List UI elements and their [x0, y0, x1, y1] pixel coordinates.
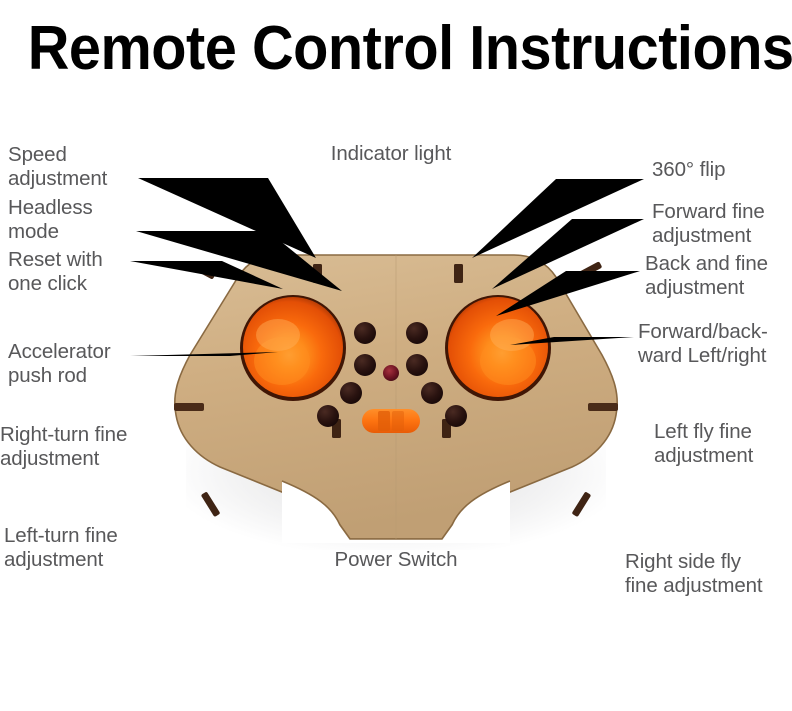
indicator-led [383, 365, 399, 381]
callout-label-left-fly-fine: Left fly fine adjustment [654, 420, 792, 468]
callout-label-left-turn-fine: Left-turn fine adjustment [4, 524, 169, 572]
callout-label-back-and-fine: Back and fine adjustment [645, 252, 792, 300]
slot-upper-right [454, 264, 463, 283]
trim-button-left-lower[interactable] [340, 382, 362, 404]
right-joystick[interactable] [445, 295, 551, 401]
callout-label-right-turn-fine: Right-turn fine adjustment [0, 423, 165, 471]
left-joystick[interactable] [240, 295, 346, 401]
trim-button-right-bottom[interactable] [445, 405, 467, 427]
tab-slot-left [174, 403, 204, 411]
callout-label-indicator-light: Indicator light [316, 142, 466, 166]
tab-slot-top-right [576, 261, 602, 279]
callout-label-power-switch: Power Switch [321, 548, 471, 572]
instruction-diagram: Remote Control Instructions [0, 0, 792, 711]
remote-control-device [170, 243, 622, 543]
tab-slot-bottom-right [572, 491, 592, 517]
callout-label-headless-mode: Headless mode [8, 196, 158, 244]
trim-button-right-lower[interactable] [421, 382, 443, 404]
slot-upper-left [313, 264, 322, 283]
tab-slot-top-left [190, 261, 216, 279]
callout-label-flip-360: 360° flip [652, 158, 792, 182]
trim-button-left-bottom[interactable] [317, 405, 339, 427]
trim-button-right-upper[interactable] [406, 322, 428, 344]
tab-slot-right [588, 403, 618, 411]
trim-button-left-middle[interactable] [354, 354, 376, 376]
callout-label-reset-one-click: Reset with one click [8, 248, 158, 296]
callout-label-accelerator-push-rod: Accelerator push rod [8, 340, 168, 388]
page-title: Remote Control Instructions [28, 14, 765, 84]
callout-label-forward-fine: Forward fine adjustment [652, 200, 792, 248]
callout-label-forward-backward-lr: Forward/back- ward Left/right [638, 320, 792, 368]
trim-button-right-middle[interactable] [406, 354, 428, 376]
callout-label-right-side-fly-fine: Right side fly fine adjustment [625, 550, 792, 598]
trim-button-left-upper[interactable] [354, 322, 376, 344]
tab-slot-bottom-left [201, 491, 221, 517]
callout-label-speed-adjustment: Speed adjustment [8, 143, 158, 191]
power-switch-control[interactable] [362, 409, 420, 433]
